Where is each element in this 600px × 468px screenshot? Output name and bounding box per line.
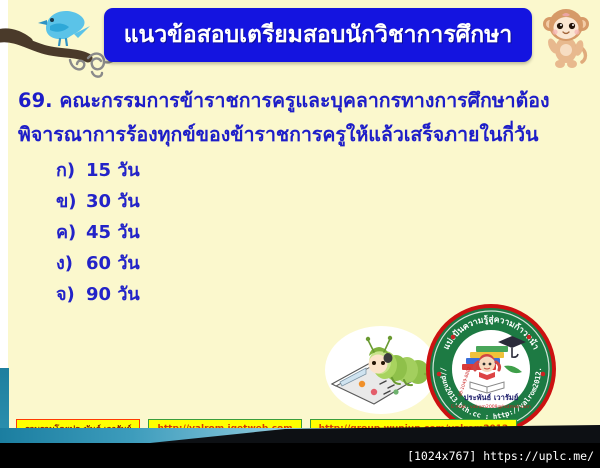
choices-block: ก) 15 วัน ข) 30 วัน ค) 45 วัน ง) 60 วัน … [56,155,356,310]
choice-key: ค) [56,217,86,246]
slide-frame: แนวข้อสอบเตรียมสอบนักวิชาการศึกษา [0,0,600,443]
watermark-text: [1024x767] https://uplc.me/ [407,449,594,463]
left-accent-bar [0,368,9,434]
seal-center-name: ประพันธ์ เวารัมย์ [464,393,518,402]
choice-value: 15 วัน [86,155,140,184]
choice-key: จ) [56,279,86,308]
seal-email-text: E-mail : valrom2009@hotmail.com [451,404,531,410]
choice-value: 45 วัน [86,217,140,246]
choice-option-kho2[interactable]: ค) 45 วัน [56,217,356,248]
choice-value: 90 วัน [86,279,140,308]
monkey-mascot-icon [536,2,594,68]
choice-value: 60 วัน [86,248,140,277]
page-title: แนวข้อสอบเตรียมสอบนักวิชาการศึกษา [124,24,513,47]
choice-option-ngo[interactable]: ง) 60 วัน [56,248,356,279]
question-line-2: พิจารณาการร้องทุกข์ของข้าราชการครูให้แล้… [18,118,584,152]
choice-option-cho[interactable]: จ) 90 วัน [56,279,356,310]
watermark-strip: [1024x767] https://uplc.me/ [0,443,600,468]
choice-key: ง) [56,248,86,277]
question-block: 69. คณะกรรมการข้าราชการครูและบุคลากรทางก… [18,84,584,152]
choice-option-ka[interactable]: ก) 15 วัน [56,155,356,186]
choice-value: 30 วัน [86,186,140,215]
slide-title-bar: แนวข้อสอบเตรียมสอบนักวิชาการศึกษา [104,8,532,62]
knowledge-sharing-seal-icon: แบ่งปันความรู้สู่ความก้าวหน้า http://pun… [424,302,558,436]
bird-icon [36,6,92,46]
question-line-1: 69. คณะกรรมการข้าราชการครูและบุคลากรทางก… [18,84,584,118]
choice-key: ก) [56,155,86,184]
choice-key: ข) [56,186,86,215]
caterpillar-reading-icon [322,322,440,418]
choice-option-kho[interactable]: ข) 30 วัน [56,186,356,217]
